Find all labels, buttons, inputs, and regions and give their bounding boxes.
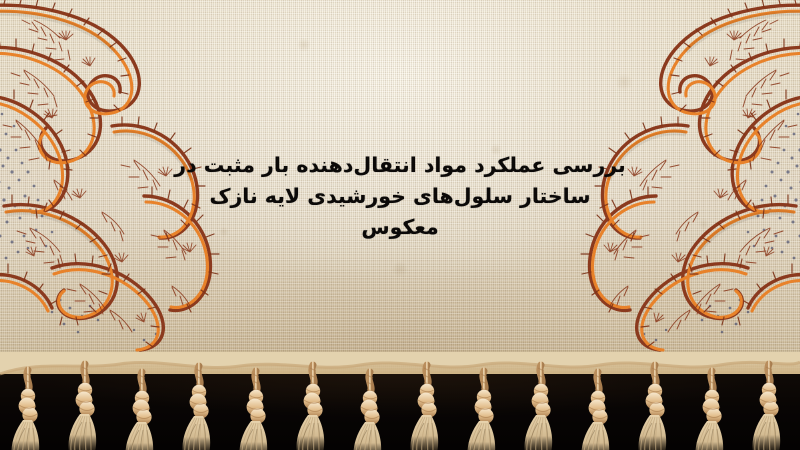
tassel <box>752 364 780 450</box>
tassel <box>467 371 495 450</box>
tassel <box>182 366 210 450</box>
tassel <box>11 370 39 450</box>
tassel <box>68 364 96 450</box>
tassel <box>695 371 723 450</box>
tassel <box>524 365 552 450</box>
tassel <box>638 365 666 450</box>
tassel <box>239 371 267 450</box>
tassel-fringe <box>0 352 800 450</box>
tassel <box>410 365 438 450</box>
slide-title: بررسی عملکرد مواد انتقال‌دهنده بار مثبت … <box>0 150 800 243</box>
title-line-2: ساختار سلول‌های خورشیدی لایه نازک <box>0 181 800 212</box>
title-line-3: معکوس <box>0 212 800 243</box>
tassel <box>296 365 324 450</box>
title-line-1: بررسی عملکرد مواد انتقال‌دهنده بار مثبت … <box>0 150 800 181</box>
tassel <box>353 372 381 450</box>
tassel <box>581 372 609 450</box>
tassel <box>125 372 153 450</box>
tassel-row <box>11 364 780 450</box>
title-slide: بررسی عملکرد مواد انتقال‌دهنده بار مثبت … <box>0 0 800 450</box>
